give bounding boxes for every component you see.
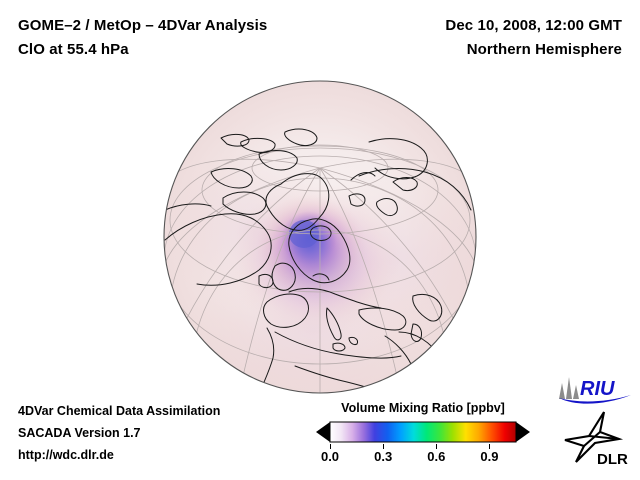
timestamp-label: Dec 10, 2008, 12:00 GMT	[445, 14, 622, 38]
footer-credits: 4DVar Chemical Data Assimilation SACADA …	[18, 400, 220, 466]
website-link[interactable]: http://wdc.dlr.de	[18, 444, 220, 466]
dlr-logo-svg: DLR	[563, 410, 635, 468]
figure-subtitle-species: ClO at 55.4 hPa	[18, 38, 267, 62]
globe-svg	[163, 80, 477, 394]
colorbar-tick-label: 0.0	[321, 449, 339, 464]
colorbar-title: Volume Mixing Ratio [ppbv]	[312, 401, 534, 415]
colorbar-tick-label: 0.9	[480, 449, 498, 464]
colorbar-max-arrow	[516, 422, 530, 442]
globe-map	[163, 80, 477, 394]
figure-title: GOME–2 / MetOp – 4DVar Analysis	[18, 14, 267, 38]
header-left: GOME–2 / MetOp – 4DVar Analysis ClO at 5…	[18, 14, 267, 62]
dlr-wordmark: DLR	[597, 451, 628, 468]
dlr-logo: DLR	[563, 410, 635, 468]
version-label: SACADA Version 1.7	[18, 422, 220, 444]
riu-logo: RIU	[557, 373, 635, 407]
colorbar-svg	[312, 420, 534, 444]
figure-canvas: GOME–2 / MetOp – 4DVar Analysis ClO at 5…	[0, 0, 640, 480]
hemisphere-label: Northern Hemisphere	[445, 38, 622, 62]
colorbar-bar	[312, 420, 534, 444]
colorbar-gradient-rect	[330, 422, 516, 442]
riu-wordmark: RIU	[580, 378, 615, 400]
riu-bars-icon	[559, 377, 579, 399]
colorbar-min-arrow	[316, 422, 330, 442]
header-right: Dec 10, 2008, 12:00 GMT Northern Hemisph…	[445, 14, 622, 62]
colorbar-tick-label: 0.3	[374, 449, 392, 464]
colorbar: Volume Mixing Ratio [ppbv] 0.00.30.60.9	[312, 401, 534, 471]
assimilation-label: 4DVar Chemical Data Assimilation	[18, 400, 220, 422]
riu-logo-svg: RIU	[557, 373, 635, 407]
colorbar-tick-labels: 0.00.30.60.9	[312, 449, 534, 469]
colorbar-tick-label: 0.6	[427, 449, 445, 464]
